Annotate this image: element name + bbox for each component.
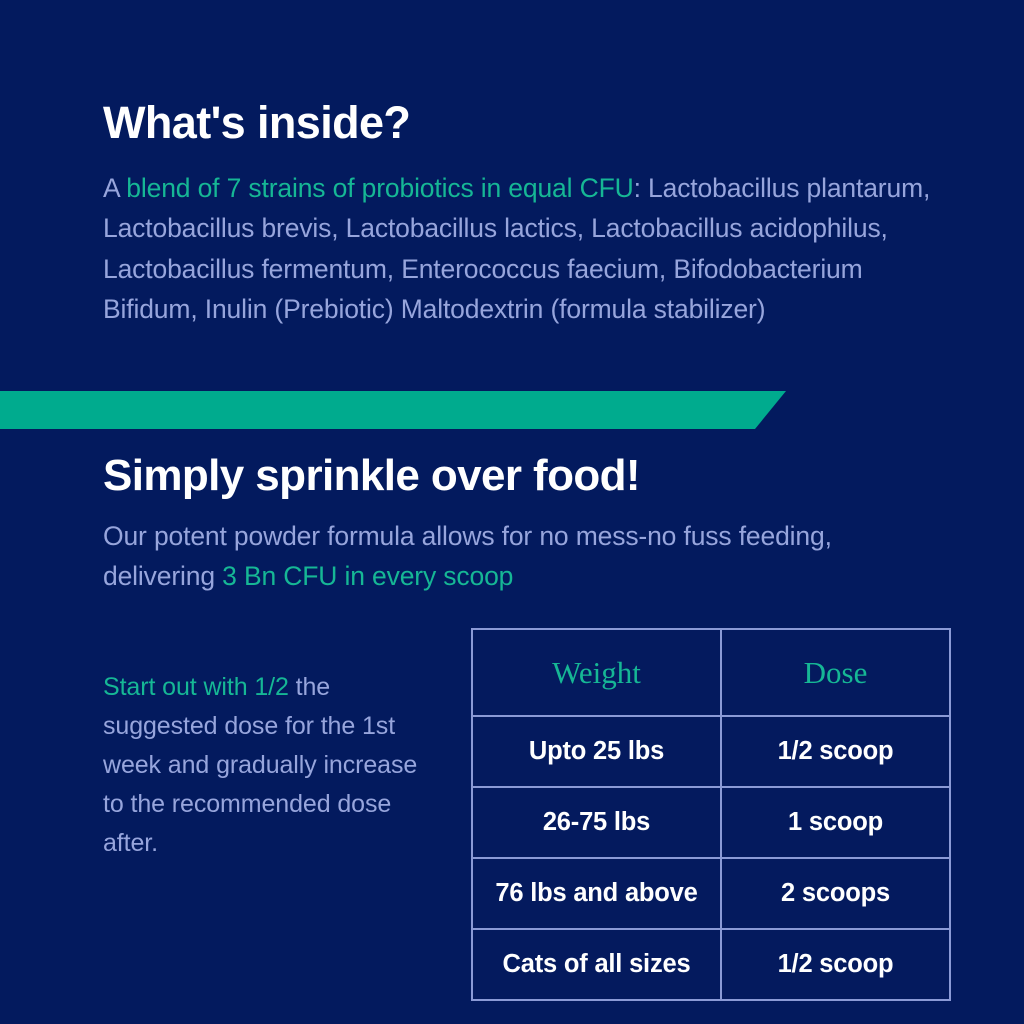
ingredients-paragraph: A blend of 7 strains of probiotics in eq… [103,168,931,330]
cell-dose: 2 scoops [721,858,950,929]
banner-bar-shape [0,391,755,429]
green-arrow-banner [0,391,790,429]
table-header-row: Weight Dose [472,629,950,716]
cell-weight: Upto 25 lbs [472,716,721,787]
cell-dose: 1 scoop [721,787,950,858]
cell-dose: 1/2 scoop [721,929,950,1000]
sprinkle-heading: Simply sprinkle over food! [103,452,933,500]
cell-dose: 1/2 scoop [721,716,950,787]
whats-inside-heading: What's inside? [103,98,933,148]
dose-note-paragraph: Start out with 1/2 the suggested dose fo… [103,668,423,863]
dosage-table-body: Upto 25 lbs 1/2 scoop 26-75 lbs 1 scoop … [472,716,950,1000]
dosage-table: Weight Dose Upto 25 lbs 1/2 scoop 26-75 … [471,628,951,1001]
column-header-weight: Weight [472,629,721,716]
sprinkle-body-highlight-text: 3 Bn CFU in every scoop [222,561,513,591]
cell-weight: Cats of all sizes [472,929,721,1000]
column-header-dose: Dose [721,629,950,716]
intro-highlight-text: blend of 7 strains of probiotics in equa… [126,173,633,203]
infographic-page: What's inside? A blend of 7 strains of p… [0,0,1024,1024]
dosage-section: Start out with 1/2 the suggested dose fo… [103,643,953,1003]
banner-arrow-tip-shape [755,391,786,429]
table-row: 76 lbs and above 2 scoops [472,858,950,929]
cell-weight: 76 lbs and above [472,858,721,929]
table-row: Upto 25 lbs 1/2 scoop [472,716,950,787]
whats-inside-section: What's inside? A blend of 7 strains of p… [103,98,933,330]
cell-weight: 26-75 lbs [472,787,721,858]
table-row: 26-75 lbs 1 scoop [472,787,950,858]
intro-lead-text: A [103,173,126,203]
sprinkle-section: Simply sprinkle over food! Our potent po… [103,452,933,596]
dosage-table-head: Weight Dose [472,629,950,716]
sprinkle-paragraph: Our potent powder formula allows for no … [103,516,933,596]
dose-note-highlight-text: Start out with 1/2 [103,673,289,701]
table-row: Cats of all sizes 1/2 scoop [472,929,950,1000]
